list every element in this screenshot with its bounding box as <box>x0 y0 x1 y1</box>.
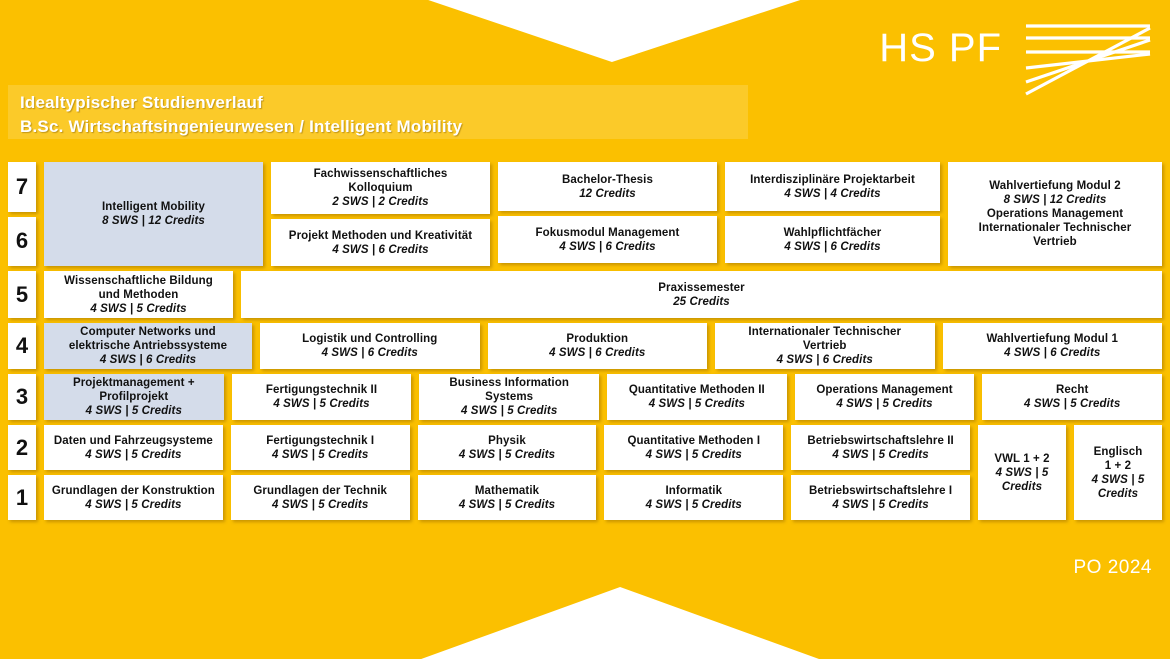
module-name: Business Information Systems <box>449 376 569 404</box>
module-praxissemester[interactable]: Praxissemester 25 Credits <box>241 271 1162 318</box>
module-fertigungstechnik-1[interactable]: Fertigungstechnik I 4 SWS | 5 Credits <box>231 425 410 470</box>
module-meta: 4 SWS | 5 Credits <box>832 498 928 512</box>
module-intelligent-mobility[interactable]: Intelligent Mobility 8 SWS | 12 Credits <box>44 162 263 266</box>
module-extra-3: Vertrieb <box>1033 235 1077 249</box>
column-group-a: Fachwissenschaftliches Kolloquium 2 SWS … <box>271 162 490 266</box>
module-name: Betriebswirtschaftslehre I <box>809 484 952 498</box>
module-meta: 4 SWS | 5 Credits <box>1092 473 1145 501</box>
module-meta: 4 SWS | 6 Credits <box>1004 346 1100 360</box>
module-name: Englisch 1 + 2 <box>1094 445 1143 473</box>
module-meta: 4 SWS | 5 Credits <box>996 466 1049 494</box>
module-bachelor-thesis[interactable]: Bachelor-Thesis 12 Credits <box>498 162 717 211</box>
module-name: Informatik <box>665 484 722 498</box>
module-quantitative-methoden-1[interactable]: Quantitative Methoden I 4 SWS | 5 Credit… <box>604 425 783 470</box>
module-fachwissenschaftliches-kolloquium[interactable]: Fachwissenschaftliches Kolloquium 2 SWS … <box>271 162 490 214</box>
semester-label-2: 2 <box>8 425 36 470</box>
module-meta: 4 SWS | 4 Credits <box>784 187 880 201</box>
module-meta: 4 SWS | 6 Credits <box>559 240 655 254</box>
column-group-e: Fertigungstechnik I 4 SWS | 5 Credits Gr… <box>231 425 410 520</box>
module-mathematik[interactable]: Mathematik 4 SWS | 5 Credits <box>418 475 597 520</box>
module-name: Interdisziplinäre Projektarbeit <box>750 173 915 187</box>
module-projektmanagement-profilprojekt[interactable]: Projektmanagement + Profilprojekt 4 SWS … <box>44 374 224 420</box>
module-name: Wahlvertiefung Modul 1 <box>987 332 1118 346</box>
module-quantitative-methoden-2[interactable]: Quantitative Methoden II 4 SWS | 5 Credi… <box>607 374 787 420</box>
module-physik[interactable]: Physik 4 SWS | 5 Credits <box>418 425 597 470</box>
module-meta: 4 SWS | 5 Credits <box>272 498 368 512</box>
module-meta: 4 SWS | 5 Credits <box>90 302 186 316</box>
semester-row-3: 3 Projektmanagement + Profilprojekt 4 SW… <box>8 374 1162 420</box>
column-group-c: Interdisziplinäre Projektarbeit 4 SWS | … <box>725 162 940 266</box>
module-logistik-controlling[interactable]: Logistik und Controlling 4 SWS | 6 Credi… <box>260 323 480 369</box>
title-bar: Idealtypischer Studienverlauf B.Sc. Wirt… <box>8 85 748 139</box>
hspf-logo: HS PF <box>879 18 1154 98</box>
module-meta: 4 SWS | 5 Credits <box>86 404 182 418</box>
module-name: Computer Networks und elektrische Antrie… <box>69 325 227 353</box>
module-meta: 4 SWS | 5 Credits <box>273 397 369 411</box>
module-meta: 4 SWS | 5 Credits <box>85 448 181 462</box>
module-name: Projektmanagement + Profilprojekt <box>73 376 195 404</box>
module-meta: 4 SWS | 5 Credits <box>85 498 181 512</box>
module-name: Physik <box>488 434 526 448</box>
module-meta: 8 SWS | 12 Credits <box>102 214 205 228</box>
module-name: Quantitative Methoden I <box>627 434 760 448</box>
module-wahlvertiefung-modul-2[interactable]: Wahlvertiefung Modul 2 8 SWS | 12 Credit… <box>948 162 1162 266</box>
module-name: Intelligent Mobility <box>102 200 205 214</box>
semester-label-4: 4 <box>8 323 36 369</box>
module-meta: 4 SWS | 6 Credits <box>784 240 880 254</box>
module-englisch[interactable]: Englisch 1 + 2 4 SWS | 5 Credits <box>1074 425 1162 520</box>
module-wahlvertiefung-modul-1[interactable]: Wahlvertiefung Modul 1 4 SWS | 6 Credits <box>943 323 1163 369</box>
module-meta: 4 SWS | 5 Credits <box>459 448 555 462</box>
semester-labels-2-1: 2 1 <box>8 425 36 520</box>
module-name: Quantitative Methoden II <box>629 383 765 397</box>
module-meta: 4 SWS | 6 Credits <box>100 353 196 367</box>
module-meta: 4 SWS | 5 Credits <box>461 404 557 418</box>
module-name: Produktion <box>566 332 628 346</box>
semester-label-3: 3 <box>8 374 36 420</box>
module-computer-networks[interactable]: Computer Networks und elektrische Antrie… <box>44 323 252 369</box>
module-meta: 4 SWS | 6 Credits <box>322 346 418 360</box>
module-name: Fokusmodul Management <box>536 226 680 240</box>
module-name: Wissenschaftliche Bildung und Methoden <box>64 274 213 302</box>
hspf-lines-icon <box>1024 18 1154 98</box>
module-betriebswirtschaftslehre-2[interactable]: Betriebswirtschaftslehre II 4 SWS | 5 Cr… <box>791 425 970 470</box>
module-meta: 4 SWS | 5 Credits <box>272 448 368 462</box>
module-name: Praxissemester <box>658 281 744 295</box>
module-name: Logistik und Controlling <box>302 332 437 346</box>
column-group-f: Physik 4 SWS | 5 Credits Mathematik 4 SW… <box>418 425 597 520</box>
column-group-g: Quantitative Methoden I 4 SWS | 5 Credit… <box>604 425 783 520</box>
column-group-b: Bachelor-Thesis 12 Credits Fokusmodul Ma… <box>498 162 717 266</box>
module-name: Grundlagen der Technik <box>253 484 387 498</box>
po-version-label: PO 2024 <box>1074 557 1153 579</box>
module-daten-fahrzeugsysteme[interactable]: Daten und Fahrzeugsysteme 4 SWS | 5 Cred… <box>44 425 223 470</box>
module-meta: 4 SWS | 5 Credits <box>459 498 555 512</box>
module-meta: 4 SWS | 6 Credits <box>332 243 428 257</box>
semester-label-1: 1 <box>8 475 36 520</box>
page-title: Idealtypischer Studienverlauf <box>20 91 748 115</box>
module-meta: 4 SWS | 5 Credits <box>649 397 745 411</box>
semester-labels-7-6: 7 6 <box>8 162 36 266</box>
module-vwl[interactable]: VWL 1 + 2 4 SWS | 5 Credits <box>978 425 1066 520</box>
logo-text: HS PF <box>879 28 1002 68</box>
module-meta: 4 SWS | 6 Credits <box>777 353 873 367</box>
module-name: Wahlpflichtfächer <box>784 226 882 240</box>
module-extra-1: Operations Management <box>987 207 1123 221</box>
module-informatik[interactable]: Informatik 4 SWS | 5 Credits <box>604 475 783 520</box>
module-meta: 4 SWS | 5 Credits <box>832 448 928 462</box>
module-name: Bachelor-Thesis <box>562 173 653 187</box>
module-meta: 4 SWS | 5 Credits <box>646 448 742 462</box>
module-name: Grundlagen der Konstruktion <box>52 484 215 498</box>
chevron-bottom-decoration <box>0 587 1170 659</box>
module-fertigungstechnik-2[interactable]: Fertigungstechnik II 4 SWS | 5 Credits <box>232 374 412 420</box>
poster-background: HS PF Idealtypischer Studienverlauf B.Sc… <box>0 0 1170 659</box>
module-meta: 4 SWS | 6 Credits <box>549 346 645 360</box>
module-betriebswirtschaftslehre-1[interactable]: Betriebswirtschaftslehre I 4 SWS | 5 Cre… <box>791 475 970 520</box>
module-meta: 4 SWS | 5 Credits <box>1024 397 1120 411</box>
module-extra-2: Internationaler Technischer <box>979 221 1132 235</box>
module-name: Internationaler Technischer Vertrieb <box>748 325 901 353</box>
column-group-d: Daten und Fahrzeugsysteme 4 SWS | 5 Cred… <box>44 425 223 520</box>
module-name: Fertigungstechnik II <box>266 383 377 397</box>
module-meta: 4 SWS | 5 Credits <box>646 498 742 512</box>
module-produktion[interactable]: Produktion 4 SWS | 6 Credits <box>488 323 708 369</box>
module-fokusmodul-management[interactable]: Fokusmodul Management 4 SWS | 6 Credits <box>498 216 717 263</box>
semester-group-7-6: 7 6 Intelligent Mobility 8 SWS | 12 Cred… <box>8 162 1162 266</box>
module-business-information-systems[interactable]: Business Information Systems 4 SWS | 5 C… <box>419 374 599 420</box>
module-name: VWL 1 + 2 <box>994 452 1049 466</box>
module-name: Recht <box>1056 383 1088 397</box>
semester-label-7: 7 <box>8 162 36 212</box>
semester-row-4: 4 Computer Networks und elektrische Antr… <box>8 323 1162 369</box>
module-name: Projekt Methoden und Kreativität <box>289 229 472 243</box>
semester-row-5: 5 Wissenschaftliche Bildung und Methoden… <box>8 271 1162 318</box>
module-name: Fachwissenschaftliches Kolloquium <box>314 167 448 195</box>
semester-label-6: 6 <box>8 217 36 267</box>
module-name: Mathematik <box>475 484 539 498</box>
module-grundlagen-konstruktion[interactable]: Grundlagen der Konstruktion 4 SWS | 5 Cr… <box>44 475 223 520</box>
module-name: Wahlvertiefung Modul 2 <box>989 179 1120 193</box>
study-plan-grid: 7 6 Intelligent Mobility 8 SWS | 12 Cred… <box>8 162 1162 525</box>
module-meta: 8 SWS | 12 Credits <box>1004 193 1107 207</box>
module-interdisziplinaere-projektarbeit[interactable]: Interdisziplinäre Projektarbeit 4 SWS | … <box>725 162 940 211</box>
module-internationaler-technischer-vertrieb-s4[interactable]: Internationaler Technischer Vertrieb 4 S… <box>715 323 935 369</box>
page-subtitle: B.Sc. Wirtschaftsingenieurwesen / Intell… <box>20 115 748 139</box>
module-name: Fertigungstechnik I <box>266 434 374 448</box>
module-meta: 4 SWS | 5 Credits <box>836 397 932 411</box>
module-name: Operations Management <box>816 383 952 397</box>
module-wissenschaftliche-bildung[interactable]: Wissenschaftliche Bildung und Methoden 4… <box>44 271 233 318</box>
module-operations-management[interactable]: Operations Management 4 SWS | 5 Credits <box>795 374 975 420</box>
module-recht[interactable]: Recht 4 SWS | 5 Credits <box>982 374 1162 420</box>
semester-group-2-1: 2 1 Daten und Fahrzeugsysteme 4 SWS | 5 … <box>8 425 1162 520</box>
module-grundlagen-technik[interactable]: Grundlagen der Technik 4 SWS | 5 Credits <box>231 475 410 520</box>
semester-label-5: 5 <box>8 271 36 318</box>
module-projekt-methoden-kreativitaet[interactable]: Projekt Methoden und Kreativität 4 SWS |… <box>271 219 490 266</box>
module-name: Daten und Fahrzeugsysteme <box>54 434 213 448</box>
module-wahlpflichtfaecher[interactable]: Wahlpflichtfächer 4 SWS | 6 Credits <box>725 216 940 263</box>
column-group-h: Betriebswirtschaftslehre II 4 SWS | 5 Cr… <box>791 425 970 520</box>
module-meta: 12 Credits <box>579 187 636 201</box>
module-meta: 25 Credits <box>673 295 730 309</box>
module-name: Betriebswirtschaftslehre II <box>807 434 954 448</box>
module-meta: 2 SWS | 2 Credits <box>332 195 428 209</box>
